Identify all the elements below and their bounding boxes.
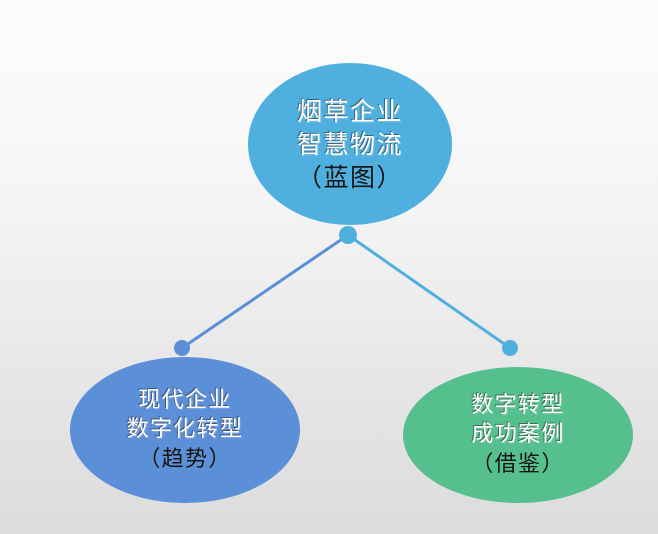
node-right-line-1: 数字转型 <box>471 391 564 420</box>
node-root[interactable]: 烟草企业 智慧物流 （蓝图） <box>248 63 452 225</box>
connector-root-to-left <box>182 235 348 348</box>
node-left-line-1: 现代企业 <box>138 386 231 415</box>
node-right-line-3: （借鉴） <box>471 450 564 479</box>
junction-right-endpoint-dot <box>502 340 518 356</box>
node-right-line-2: 成功案例 <box>471 420 564 449</box>
node-root-line-3: （蓝图） <box>297 161 403 194</box>
node-left[interactable]: 现代企业 数字化转型 （趋势） <box>70 357 300 503</box>
node-root-line-1: 烟草企业 <box>297 95 403 128</box>
junction-hub-dot <box>339 226 357 244</box>
junction-left-endpoint-dot <box>174 340 190 356</box>
node-left-line-3: （趋势） <box>138 445 231 474</box>
node-root-line-2: 智慧物流 <box>297 128 403 161</box>
diagram-canvas: 烟草企业 智慧物流 （蓝图） 现代企业 数字化转型 （趋势） 数字转型 成功案例… <box>0 0 658 534</box>
connector-root-to-right <box>348 235 510 348</box>
node-left-line-2: 数字化转型 <box>127 415 244 444</box>
node-right[interactable]: 数字转型 成功案例 （借鉴） <box>403 367 633 503</box>
